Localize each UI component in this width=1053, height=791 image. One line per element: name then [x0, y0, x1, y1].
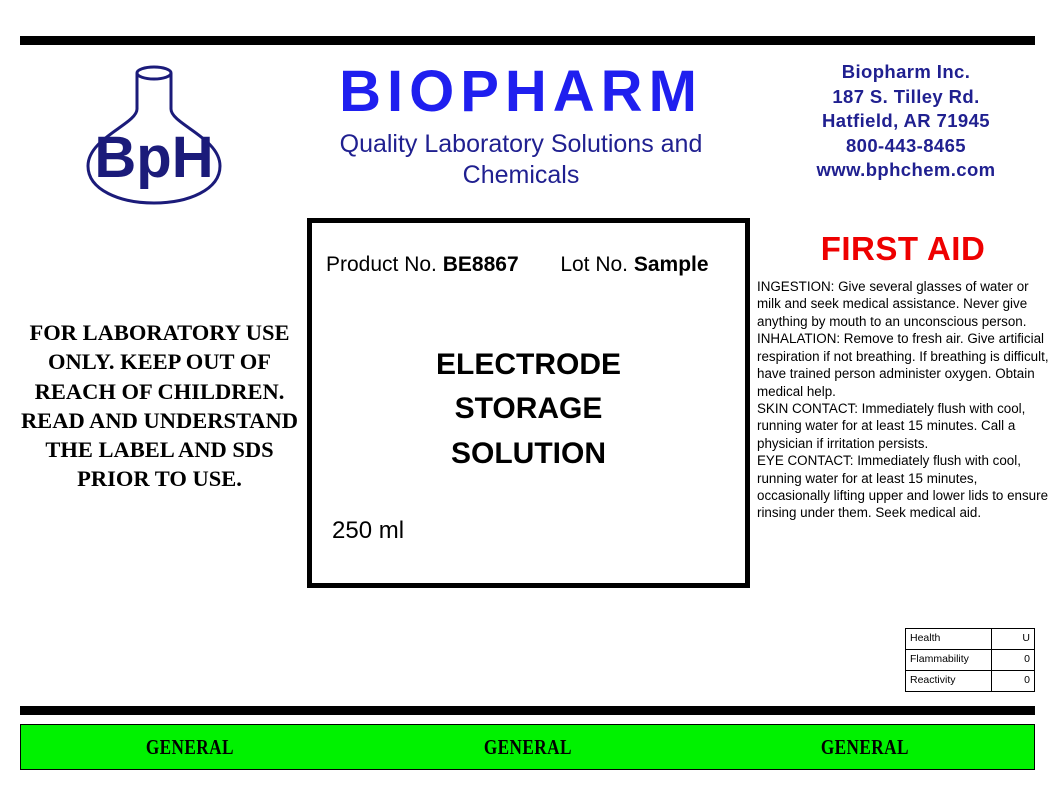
laboratory-use-warning: FOR LABORATORY USE ONLY. KEEP OUT OF REA… [18, 318, 301, 494]
brand-name: BIOPHARM [286, 62, 756, 121]
product-name: ELECTRODE STORAGE SOLUTION [312, 343, 745, 476]
hazard-name: Flammability [906, 650, 992, 671]
table-row: Reactivity 0 [906, 671, 1035, 692]
table-row: Health U [906, 629, 1035, 650]
lot-no-label: Lot No. [560, 253, 628, 276]
footer-category-label: GENERAL [727, 735, 1004, 760]
logo-text: BpH [94, 125, 213, 190]
product-info-box: Product No. BE8867 Lot No. Sample ELECTR… [307, 218, 750, 588]
lot-no-value: Sample [634, 253, 709, 276]
product-no-value: BE8867 [443, 253, 519, 276]
bottom-divider-bar [20, 706, 1035, 715]
company-address-block: Biopharm Inc. 187 S. Tilley Rd. Hatfield… [762, 60, 1050, 183]
hazard-name: Reactivity [906, 671, 992, 692]
product-name-line-1: ELECTRODE [312, 343, 745, 387]
footer-category-label: GENERAL [389, 735, 666, 760]
first-aid-title: FIRST AID [757, 232, 1049, 265]
first-aid-ingestion: INGESTION: Give several glasses of water… [757, 278, 1049, 330]
company-city-state-zip: Hatfield, AR 71945 [762, 109, 1050, 134]
hazard-name: Health [906, 629, 992, 650]
product-name-line-3: SOLUTION [312, 432, 745, 476]
company-name: Biopharm Inc. [762, 60, 1050, 85]
hazard-value: 0 [992, 671, 1035, 692]
first-aid-instructions: INGESTION: Give several glasses of water… [757, 278, 1049, 522]
table-row: Flammability 0 [906, 650, 1035, 671]
hazard-ratings-table: Health U Flammability 0 Reactivity 0 [905, 628, 1035, 692]
footer-category-label: GENERAL [51, 735, 328, 760]
product-identifiers: Product No. BE8867 Lot No. Sample [326, 253, 737, 277]
first-aid-eye-contact: EYE CONTACT: Immediately flush with cool… [757, 452, 1049, 522]
chemical-label-page: BpH BIOPHARM Quality Laboratory Solution… [0, 0, 1053, 791]
footer-category-bar: GENERAL GENERAL GENERAL [20, 724, 1035, 770]
brand-block: BIOPHARM Quality Laboratory Solutions an… [286, 62, 756, 191]
hazard-value: U [992, 629, 1035, 650]
company-phone: 800-443-8465 [762, 134, 1050, 159]
hazard-value: 0 [992, 650, 1035, 671]
company-logo: BpH [80, 62, 255, 207]
first-aid-inhalation: INHALATION: Remove to fresh air. Give ar… [757, 330, 1049, 400]
top-divider-bar [20, 36, 1035, 45]
erlenmeyer-flask-icon: BpH [80, 62, 255, 207]
product-no-label: Product No. [326, 253, 437, 276]
product-volume: 250 ml [332, 517, 404, 545]
brand-tagline: Quality Laboratory Solutions and Chemica… [286, 129, 756, 191]
first-aid-block: FIRST AID INGESTION: Give several glasse… [757, 232, 1049, 522]
company-website: www.bphchem.com [762, 158, 1050, 183]
company-street: 187 S. Tilley Rd. [762, 85, 1050, 110]
product-name-line-2: STORAGE [312, 387, 745, 431]
first-aid-skin-contact: SKIN CONTACT: Immediately flush with coo… [757, 400, 1049, 452]
